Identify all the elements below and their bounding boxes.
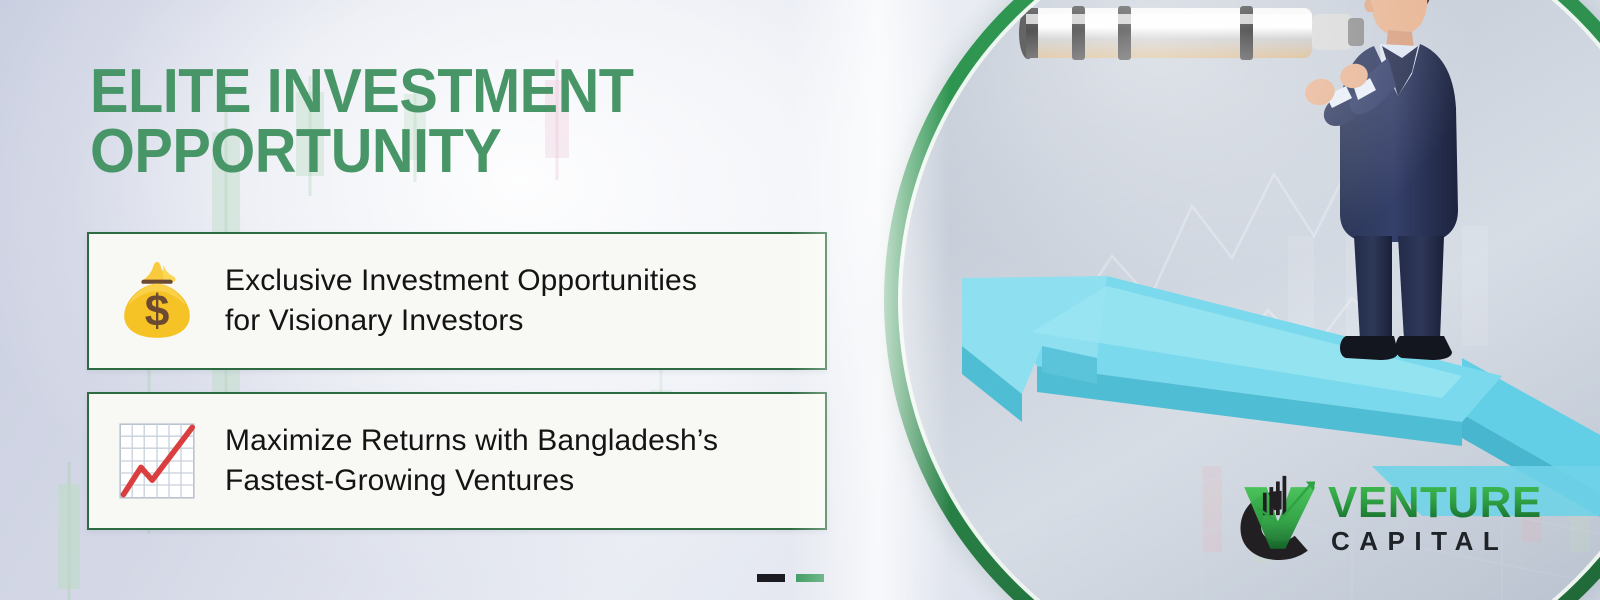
venture-capital-logo[interactable]: VENTURE CAPITAL	[1228, 474, 1542, 560]
logo-secondary-text: CAPITAL	[1328, 528, 1542, 554]
candlestick	[58, 462, 80, 600]
feature-2-line-2: Fastest-Growing Ventures	[225, 461, 718, 501]
headline-line-2: OPPORTUNITY	[90, 122, 760, 182]
feature-2-line-1: Maximize Returns with Bangladesh’s	[225, 421, 718, 461]
logo-primary-text: VENTURE	[1328, 481, 1542, 525]
carousel-pagination[interactable]	[757, 574, 824, 582]
svg-text:$: $	[145, 287, 170, 336]
pagination-bar-slide-2[interactable]	[796, 574, 824, 582]
money-bag-icon: $	[111, 255, 203, 347]
pagination-bar-slide-1[interactable]	[757, 574, 785, 582]
feature-card-1-text: Exclusive Investment Opportunities for V…	[225, 261, 697, 341]
feature-card-2-text: Maximize Returns with Bangladesh’s Faste…	[225, 421, 718, 501]
feature-card-1[interactable]: $ Exclusive Investment Opportunities for…	[87, 232, 827, 370]
feature-card-2[interactable]: Maximize Returns with Bangladesh’s Faste…	[87, 392, 827, 530]
feature-1-line-2: for Visionary Investors	[225, 301, 697, 341]
line-chart-grid-icon	[111, 415, 203, 507]
headline-line-1: ELITE INVESTMENT	[90, 57, 634, 126]
logo-mark-icon	[1228, 474, 1324, 560]
feature-1-line-1: Exclusive Investment Opportunities	[225, 261, 697, 301]
page-title: ELITE INVESTMENT OPPORTUNITY	[90, 62, 760, 181]
promo-banner: ELITE INVESTMENT OPPORTUNITY $ Exclusive…	[0, 0, 1600, 600]
